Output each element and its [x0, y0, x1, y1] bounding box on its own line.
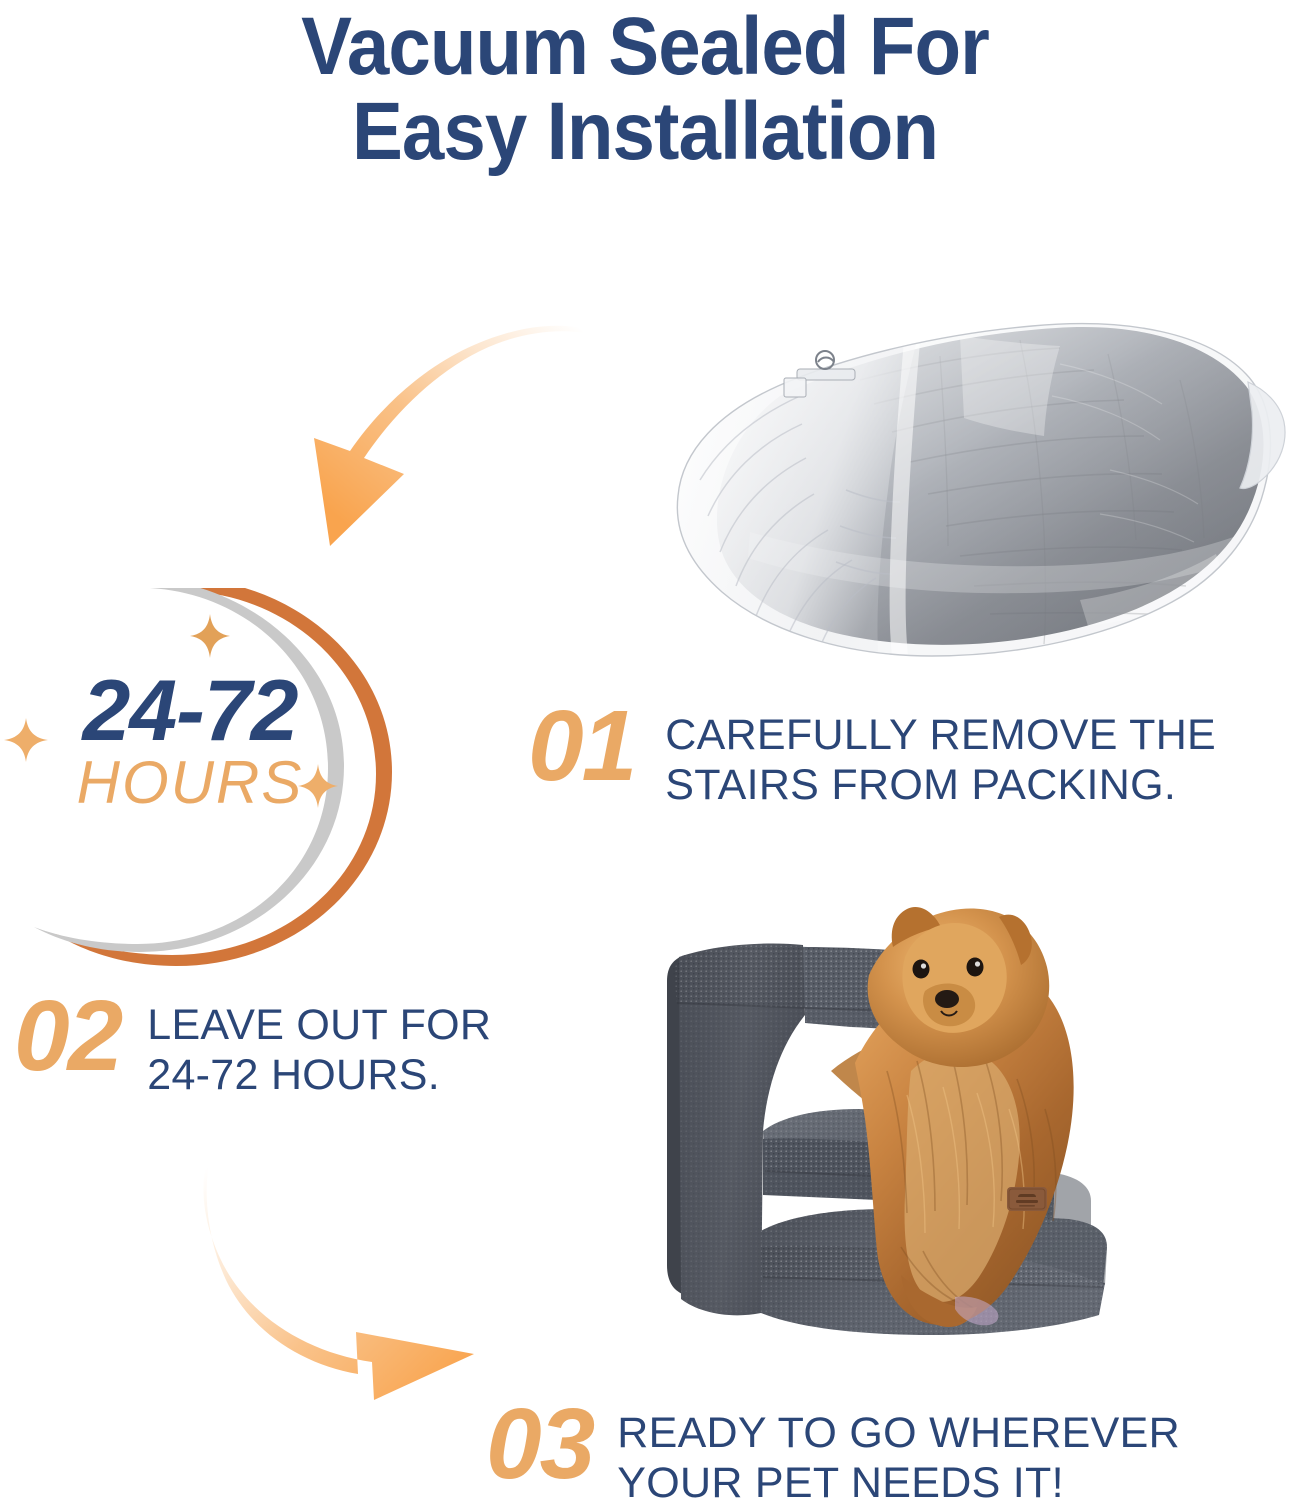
- duration-number: 24-72: [40, 670, 340, 752]
- step-03-number: 03: [486, 1398, 593, 1490]
- title-line-1: Vacuum Sealed For: [45, 4, 1245, 89]
- step-01-number: 01: [528, 700, 635, 792]
- step-02-text: LEAVE OUT FOR 24-72 HOURS.: [147, 990, 491, 1100]
- arrow-to-step-03-icon: [178, 1136, 518, 1411]
- step-02: 02 LEAVE OUT FOR 24-72 HOURS.: [14, 990, 491, 1100]
- sparkle-top-icon: [190, 614, 230, 658]
- vacuum-sealed-package-photo: [660, 300, 1290, 700]
- infographic-page: Vacuum Sealed For Easy Installation: [0, 0, 1290, 1500]
- step-01-text: CAREFULLY REMOVE THE STAIRS FROM PACKING…: [665, 700, 1216, 810]
- arrow-to-step-01-icon: [292, 318, 622, 583]
- step-01: 01 CAREFULLY REMOVE THE STAIRS FROM PACK…: [528, 700, 1216, 810]
- step-03-text: READY TO GO WHEREVER YOUR PET NEEDS IT!: [617, 1398, 1180, 1500]
- duration-badge: 24-72 HOURS: [0, 588, 430, 968]
- duration-badge-text: 24-72 HOURS: [40, 670, 340, 814]
- duration-unit: HOURS: [40, 752, 340, 814]
- step-02-number: 02: [14, 990, 121, 1082]
- step-03: 03 READY TO GO WHEREVER YOUR PET NEEDS I…: [486, 1398, 1180, 1500]
- title-line-2: Easy Installation: [45, 89, 1245, 174]
- page-title: Vacuum Sealed For Easy Installation: [0, 4, 1290, 174]
- pomeranian-on-pet-stairs-photo: [655, 895, 1125, 1365]
- brand-logo-tag: [1007, 1187, 1047, 1211]
